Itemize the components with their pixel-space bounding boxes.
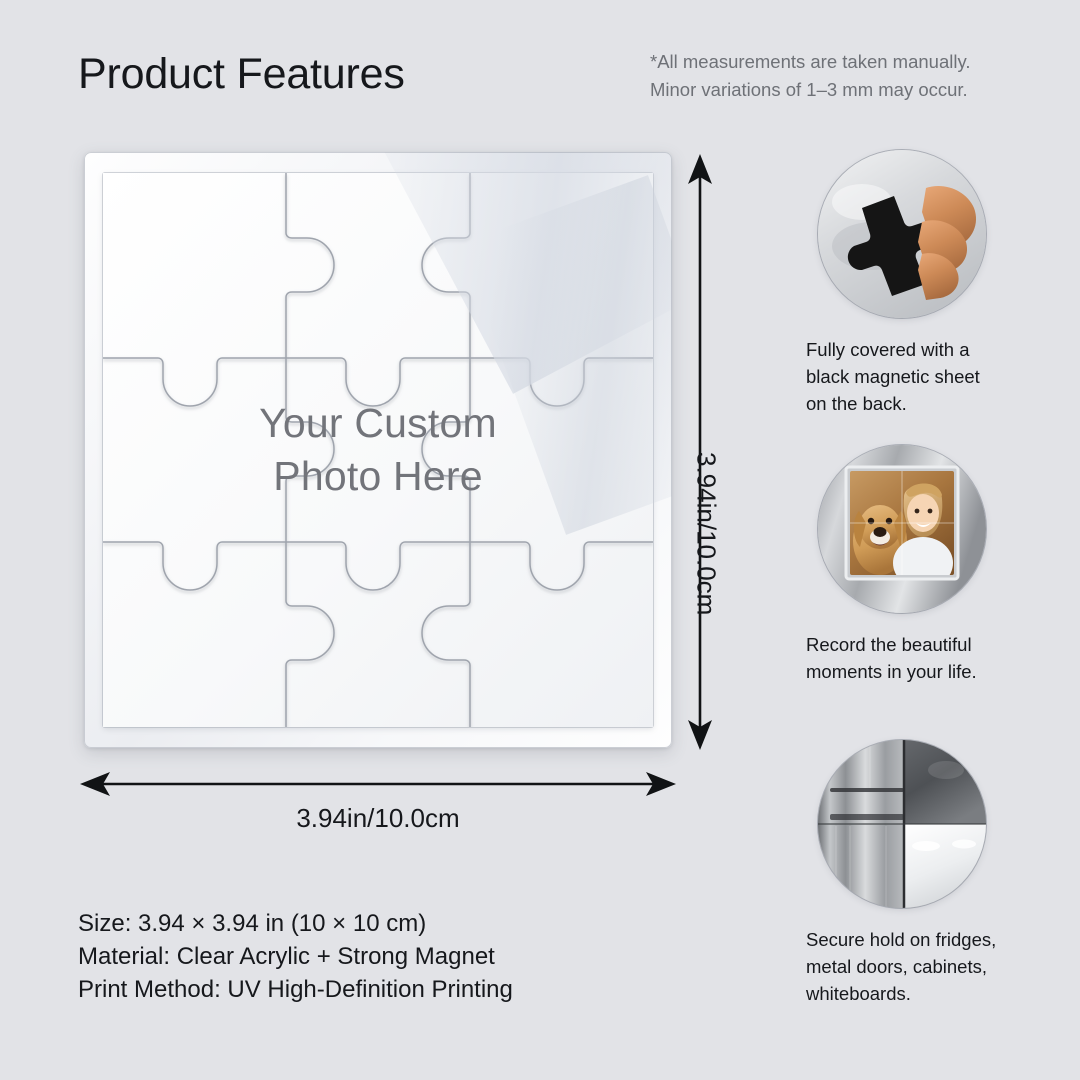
- product-features-infographic: Product Features *All measurements are t…: [0, 0, 1080, 1080]
- caption-line: Secure hold on fridges,: [806, 926, 1018, 953]
- spec-size: Size: 3.94 × 3.94 in (10 × 10 cm): [78, 908, 513, 941]
- caption-line: moments in your life.: [806, 658, 1018, 685]
- caption-line: Fully covered with a: [806, 336, 1018, 363]
- feature-item-photo-memories: Record the beautiful moments in your lif…: [806, 445, 1018, 685]
- caption-line: whiteboards.: [806, 980, 1018, 1007]
- product-image: Your Custom Photo Here: [84, 152, 672, 748]
- page-title: Product Features: [78, 50, 405, 99]
- photo-magnet-woman-and-dog-icon: [818, 445, 986, 613]
- feature-thumbnail-magnetic-back: [818, 150, 986, 318]
- caption-line: on the back.: [806, 390, 1018, 417]
- feature-thumbnail-secure-hold: [818, 740, 986, 908]
- spec-print-method: Print Method: UV High-Definition Printin…: [78, 974, 513, 1007]
- disclaimer-line-1: *All measurements are taken manually.: [650, 48, 1030, 76]
- feature-caption-magnetic-back: Fully covered with a black magnetic shee…: [806, 336, 1018, 417]
- feature-thumbnail-photo-memories: [818, 445, 986, 613]
- width-dimension-arrow: [78, 760, 678, 808]
- height-dimension-label: 3.94in/10.0cm: [691, 452, 722, 615]
- spec-material: Material: Clear Acrylic + Strong Magnet: [78, 941, 513, 974]
- feature-item-magnetic-back: Fully covered with a black magnetic shee…: [806, 150, 1018, 417]
- caption-line: Record the beautiful: [806, 631, 1018, 658]
- hand-holding-black-puzzle-piece-icon: [818, 150, 986, 318]
- caption-line: metal doors, cabinets,: [806, 953, 1018, 980]
- caption-line: black magnetic sheet: [806, 363, 1018, 390]
- width-dimension-label: 3.94in/10.0cm: [78, 803, 678, 834]
- feature-caption-secure-hold: Secure hold on fridges, metal doors, cab…: [806, 926, 1018, 1007]
- specification-list: Size: 3.94 × 3.94 in (10 × 10 cm) Materi…: [78, 908, 513, 1007]
- stainless-steel-fridge-icon: [818, 740, 986, 908]
- feature-caption-photo-memories: Record the beautiful moments in your lif…: [806, 631, 1018, 685]
- measurement-disclaimer: *All measurements are taken manually. Mi…: [650, 48, 1030, 104]
- disclaimer-line-2: Minor variations of 1–3 mm may occur.: [650, 76, 1030, 104]
- feature-item-secure-hold: Secure hold on fridges, metal doors, cab…: [806, 740, 1018, 1007]
- puzzle-grid-3x3: [103, 173, 653, 727]
